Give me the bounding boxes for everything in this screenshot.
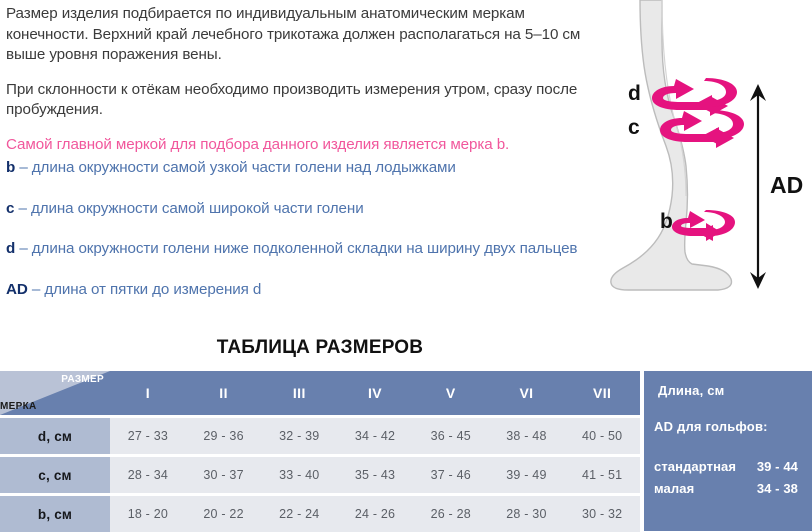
table-row: d, см 27 - 33 29 - 36 32 - 39 34 - 42 36… [0,418,640,454]
measure-dash-d: – [19,240,27,257]
measure-key-b: b [6,159,15,176]
measure-text-d: длина окружности голени ниже подколенной… [32,240,578,257]
table-column-header-2: II [186,371,262,415]
table-cell-c-6: 39 - 49 [489,457,565,493]
table-cell-d-4: 34 - 42 [337,418,413,454]
figure-label-b: b [660,210,673,233]
table-cell-b-1: 18 - 20 [110,496,186,532]
table-header-row: РАЗМЕР МЕРКА I II III IV V VI VII [0,371,640,415]
measure-definitions-list: b – длина окружности самой узкой части г… [6,158,606,300]
table-cell-c-7: 41 - 51 [564,457,640,493]
table-cell-b-6: 28 - 30 [489,496,565,532]
measure-dash-b: – [19,159,27,176]
length-row-small-name: малая [654,481,694,496]
table-cell-c-3: 33 - 40 [261,457,337,493]
intro-paragraph-2: При склонности к отёкам необходимо произ… [6,80,606,121]
length-panel-title: Длина, см [658,383,724,398]
measure-definition-ad: AD – длина от пятки до измерения d [6,280,606,301]
leg-measurement-diagram: d c b AD [600,0,812,330]
length-row-standard-name: стандартная [654,459,736,474]
length-info-panel: Длина, см AD для гольфов: стандартная 39… [644,371,812,531]
table-cell-c-2: 30 - 37 [186,457,262,493]
length-panel-subtitle: AD для гольфов: [654,419,768,434]
table-cell-b-4: 24 - 26 [337,496,413,532]
measure-dash-ad: – [32,281,40,298]
length-row-small-value: 34 - 38 [757,481,798,496]
length-row-standard: стандартная 39 - 44 [654,459,806,476]
table-column-header-4: IV [337,371,413,415]
table-column-header-7: VII [564,371,640,415]
measure-definition-d: d – длина окружности голени ниже подколе… [6,239,606,260]
table-cell-c-4: 35 - 43 [337,457,413,493]
measure-text-b: длина окружности самой узкой части голен… [32,159,456,176]
measure-definition-b: b – длина окружности самой узкой части г… [6,158,606,179]
measure-text-c: длина окружности самой широкой части гол… [31,200,364,217]
intro-highlight-note: Самой главной меркой для подбора данного… [6,135,606,156]
corner-label-measure: МЕРКА [0,401,37,412]
table-cell-b-2: 20 - 22 [186,496,262,532]
measure-key-ad: AD [6,281,28,298]
intro-text-block: Размер изделия подбирается по индивидуал… [6,4,606,171]
table-row-label-c: с, см [0,457,110,493]
figure-label-d: d [628,82,641,105]
table-cell-d-3: 32 - 39 [261,418,337,454]
table-cell-b-3: 22 - 24 [261,496,337,532]
corner-label-size: РАЗМЕР [61,374,104,385]
table-cell-c-1: 28 - 34 [110,457,186,493]
length-row-small: малая 34 - 38 [654,481,806,498]
table-cell-d-2: 29 - 36 [186,418,262,454]
table-row: с, см 28 - 34 30 - 37 33 - 40 35 - 43 37… [0,457,640,493]
length-row-standard-value: 39 - 44 [757,459,798,474]
page-title: ТАБЛИЦА РАЗМЕРОВ [0,337,640,359]
measure-text-ad: длина от пятки до измерения d [44,281,261,298]
measure-arrow-ad-icon [750,84,766,289]
table-cell-b-7: 30 - 32 [564,496,640,532]
table-cell-c-5: 37 - 46 [413,457,489,493]
table-column-header-3: III [261,371,337,415]
measure-key-c: c [6,200,14,217]
table-cell-d-6: 38 - 48 [489,418,565,454]
table-row-label-b: b, см [0,496,110,532]
table-column-header-1: I [110,371,186,415]
table-cell-d-5: 36 - 45 [413,418,489,454]
table-cell-d-7: 40 - 50 [564,418,640,454]
leg-silhouette-icon [611,0,732,290]
measure-dash-c: – [18,200,26,217]
intro-paragraph-1: Размер изделия подбирается по индивидуал… [6,4,606,66]
measure-definition-c: c – длина окружности самой широкой части… [6,199,606,220]
size-table: РАЗМЕР МЕРКА I II III IV V VI VII d, см … [0,371,640,532]
figure-label-c: c [628,116,640,139]
table-column-header-5: V [413,371,489,415]
table-row: b, см 18 - 20 20 - 22 22 - 24 24 - 26 26… [0,496,640,532]
table-row-label-d: d, см [0,418,110,454]
table-column-header-6: VI [489,371,565,415]
measure-key-d: d [6,240,15,257]
table-corner-cell: РАЗМЕР МЕРКА [0,371,110,415]
table-cell-b-5: 26 - 28 [413,496,489,532]
figure-label-ad: AD [770,172,803,198]
table-cell-d-1: 27 - 33 [110,418,186,454]
